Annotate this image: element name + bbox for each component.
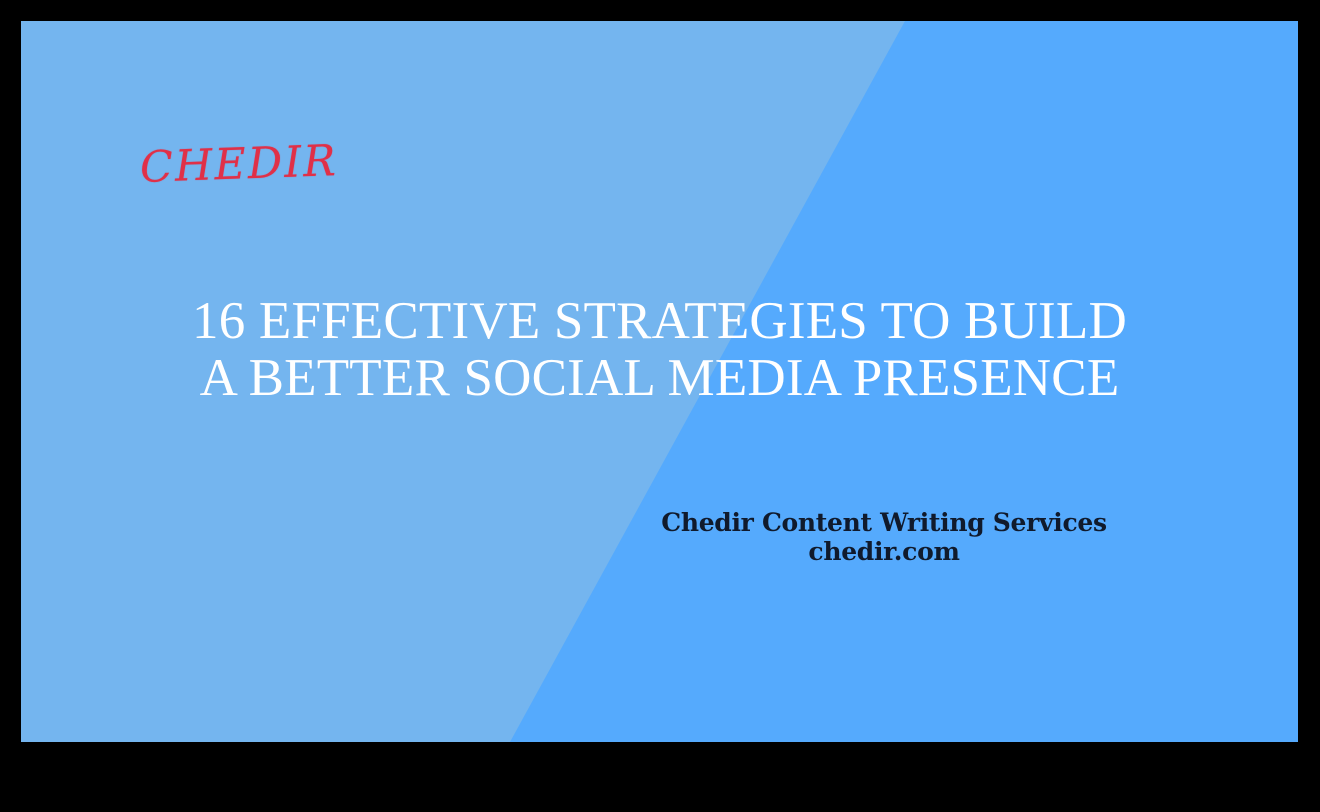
slide-title: 16 EFFECTIVE STRATEGIES TO BUILD A BETTE… [21, 293, 1298, 407]
attribution-company: Chedir Content Writing Services [634, 508, 1134, 537]
slide-attribution: Chedir Content Writing Services chedir.c… [634, 508, 1134, 566]
presentation-frame: CHEDIR 16 EFFECTIVE STRATEGIES TO BUILD … [0, 0, 1320, 812]
slide-canvas: CHEDIR 16 EFFECTIVE STRATEGIES TO BUILD … [21, 21, 1298, 742]
attribution-website: chedir.com [634, 537, 1134, 566]
slide-title-line-1: 16 EFFECTIVE STRATEGIES TO BUILD [81, 293, 1238, 350]
slide-title-line-2: A BETTER SOCIAL MEDIA PRESENCE [81, 350, 1238, 407]
brand-logo: CHEDIR [139, 140, 338, 190]
slide-content: CHEDIR 16 EFFECTIVE STRATEGIES TO BUILD … [21, 21, 1298, 742]
